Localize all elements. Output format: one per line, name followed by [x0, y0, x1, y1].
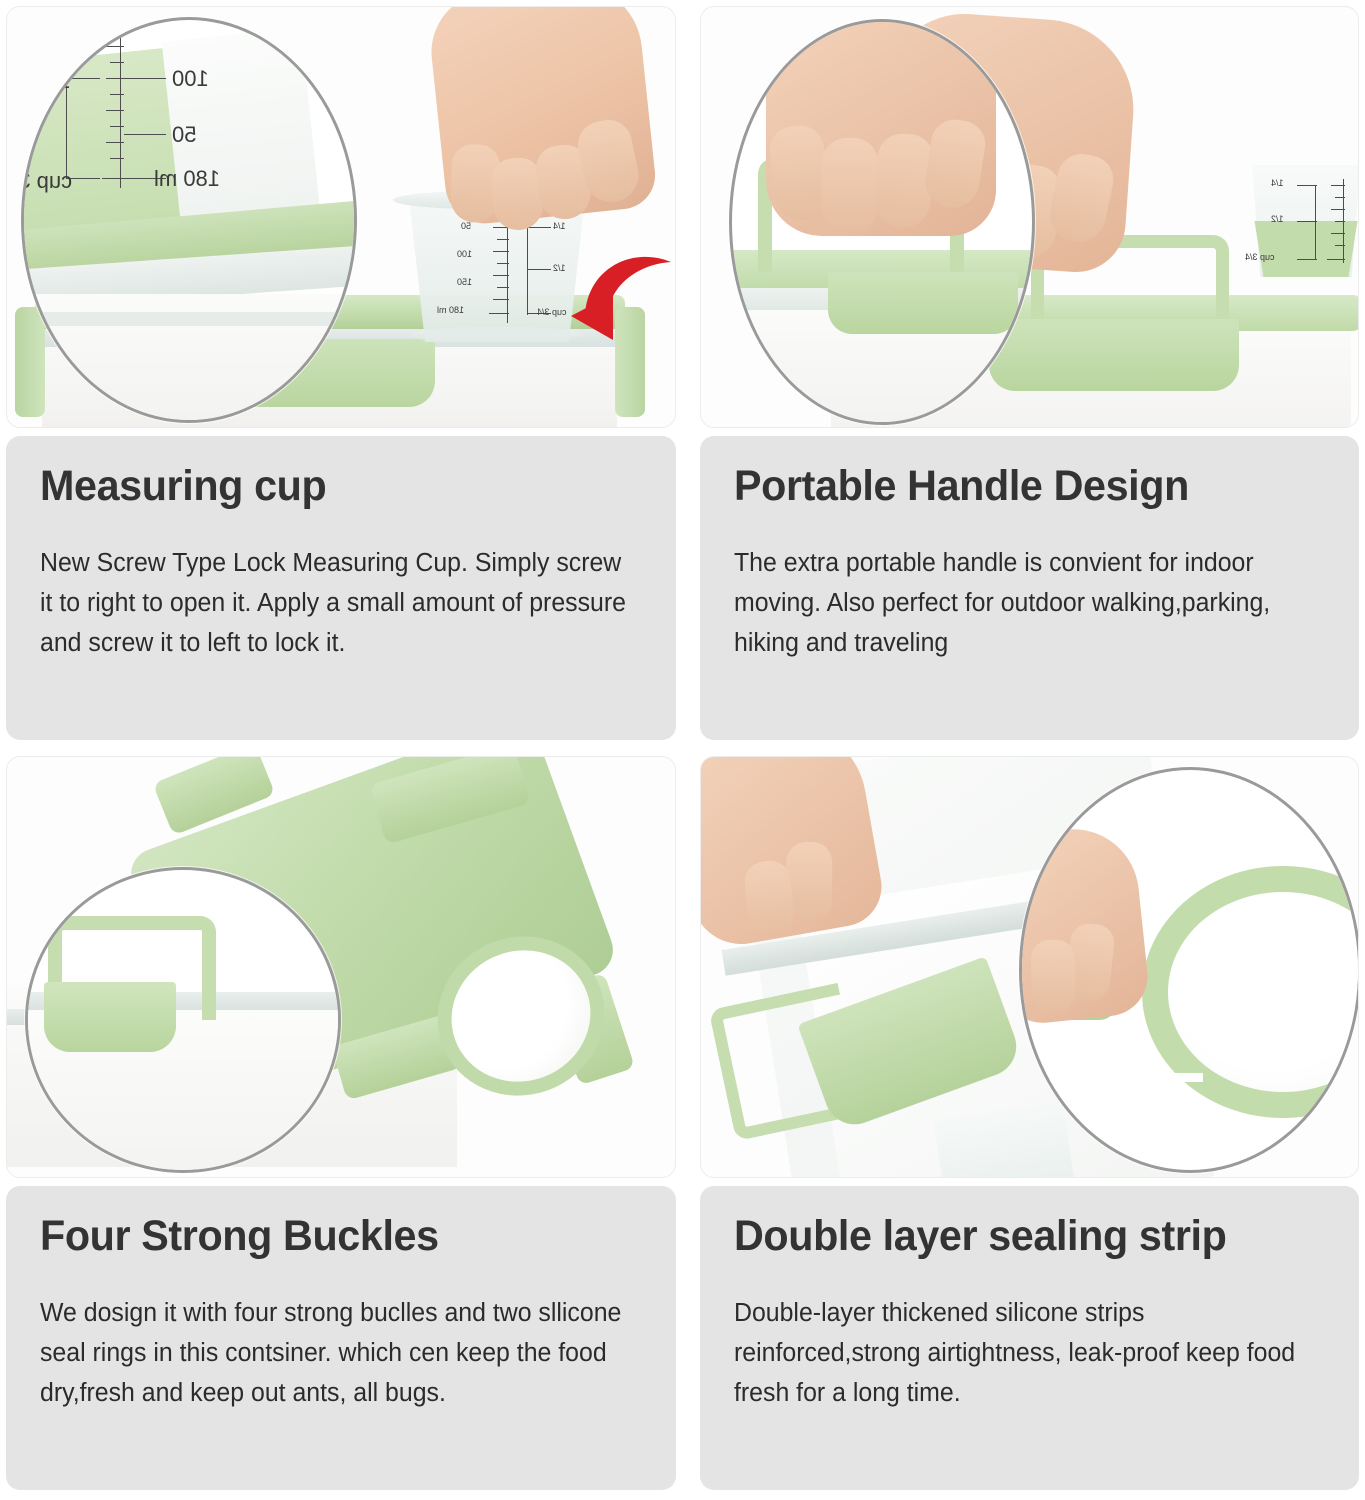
cup-mark-180ml: 180 ml — [437, 305, 464, 315]
cup-mark-threequarter: cup 3/4 — [1245, 252, 1275, 262]
cup-mark-quarter: 1/4 — [1271, 178, 1284, 188]
magnifier-inset-cup-scale: 100 50 180 ml 1/2 cup 3/4 — [21, 17, 357, 423]
magnifier-inset-buckle — [25, 867, 341, 1173]
magnifier-inset-handle — [729, 19, 1035, 425]
panel-title: Four Strong Buckles — [40, 1214, 618, 1259]
panel-title: Portable Handle Design — [734, 464, 1301, 509]
magnifier-mark-180ml: 180 ml — [154, 166, 220, 192]
product-photo-four-strong-buckles — [6, 756, 676, 1178]
feature-panel-portable-handle: 1/4 1/2 cup 3/4 — [690, 0, 1365, 750]
product-photo-sealing-strip — [700, 756, 1359, 1178]
feature-panel-measuring-cup: 50 100 150 180 ml 1/4 1/2 cup 3/4 — [0, 0, 690, 750]
panel-title: Measuring cup — [40, 464, 618, 509]
magnifier-mark-half: 1/2 — [40, 68, 71, 94]
cup-mark-threequarter: cup 3/4 — [537, 307, 567, 317]
magnifier-mark-100: 100 — [172, 66, 209, 92]
cup-scale: 50 100 150 180 ml 1/4 1/2 cup 3/4 — [411, 213, 586, 333]
magnifier-mark-threequarter: cup 3/4 — [21, 168, 72, 194]
product-photo-measuring-cup: 50 100 150 180 ml 1/4 1/2 cup 3/4 — [6, 6, 676, 428]
screw-direction-arrow — [567, 242, 675, 347]
cup-mark-100: 100 — [457, 249, 472, 259]
hand — [1019, 823, 1152, 1028]
panel-body: The extra portable handle is convient fo… — [734, 543, 1310, 664]
caption-four-strong-buckles: Four Strong Buckles We dosign it with fo… — [6, 1186, 676, 1490]
product-photo-portable-handle: 1/4 1/2 cup 3/4 — [700, 6, 1359, 428]
feature-panel-double-layer-sealing-strip: Double layer sealing strip Double-layer … — [690, 750, 1365, 1500]
cup-mark-quarter: 1/4 — [553, 221, 566, 231]
caption-portable-handle: Portable Handle Design The extra portabl… — [700, 436, 1359, 740]
cup-mark-half: 1/2 — [553, 263, 566, 273]
magnifier-mark-50: 50 — [172, 122, 196, 148]
feature-panel-four-strong-buckles: Four Strong Buckles We dosign it with fo… — [0, 750, 690, 1500]
caption-measuring-cup: Measuring cup New Screw Type Lock Measur… — [6, 436, 676, 740]
hand — [426, 7, 659, 227]
caption-double-layer-sealing-strip: Double layer sealing strip Double-layer … — [700, 1186, 1359, 1490]
cup-mark-150: 150 — [457, 277, 472, 287]
panel-body: Double-layer thickened silicone strips r… — [734, 1293, 1310, 1414]
feature-grid: 50 100 150 180 ml 1/4 1/2 cup 3/4 — [0, 0, 1365, 1500]
cup-mark-50: 50 — [461, 221, 471, 231]
cup-mark-half: 1/2 — [1271, 214, 1284, 224]
magnifier-inset-sealing-strip — [1019, 767, 1358, 1173]
panel-body: We dosign it with four strong buclles an… — [40, 1293, 627, 1414]
magnifier-scale: 100 50 180 ml 1/2 cup 3/4 — [44, 38, 324, 208]
panel-title: Double layer sealing strip — [734, 1214, 1301, 1259]
panel-body: New Screw Type Lock Measuring Cup. Simpl… — [40, 543, 627, 664]
cup-scale: 1/4 1/2 cup 3/4 — [1257, 175, 1357, 275]
